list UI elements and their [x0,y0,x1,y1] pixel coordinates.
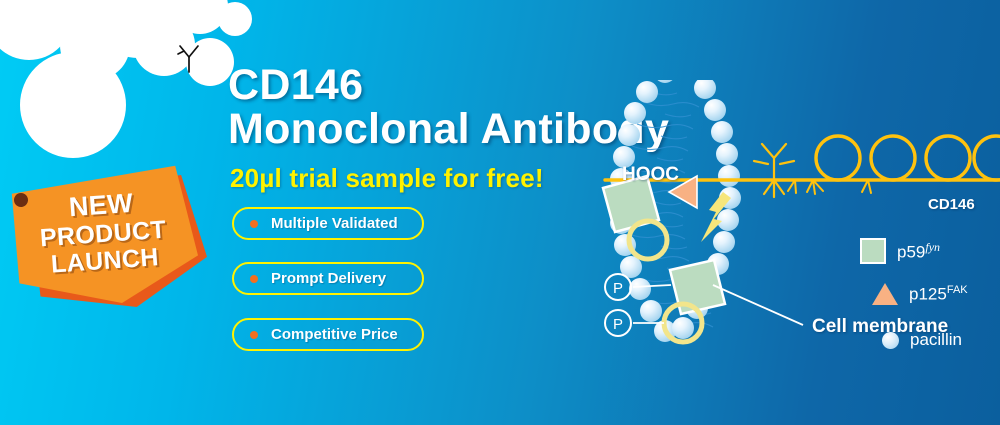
legend-sup: fyn [925,240,940,254]
feature-label: Multiple Validated [271,215,398,232]
glycan-branch [754,144,794,197]
cd146-label: CD146 [928,196,975,213]
phosphate-label: P [613,280,623,297]
legend-label-p125: p125FAK [909,284,968,305]
legend-item-p59: p59fyn [860,238,940,264]
bullet-dot-icon [250,275,258,283]
legend-sup: FAK [947,284,968,296]
p59-square-swatch-icon [860,238,886,264]
legend-item-p125: p125FAK [872,283,968,305]
phosphate-marker-2: P [605,310,631,336]
legend-text: p125 [909,284,947,303]
legend-label-pacillin: pacillin [910,330,962,350]
antibody-y-icon [176,44,202,74]
promotional-banner: NEW PRODUCT LAUNCH CD146 Monoclonal Anti… [0,0,1000,425]
feature-label: Competitive Price [271,326,398,343]
phosphate-label: P [613,316,623,333]
bullet-dot-icon [250,331,258,339]
feature-pill-multiple-validated[interactable]: Multiple Validated [232,207,424,240]
feature-pill-prompt-delivery[interactable]: Prompt Delivery [232,262,424,295]
cell-membrane-leader-line [713,285,803,325]
blob-circle [60,10,130,80]
p125-triangle-swatch-icon [872,283,898,305]
legend-label-p59: p59fyn [897,240,940,263]
feature-pill-competitive-price[interactable]: Competitive Price [232,318,424,351]
pacillin-circle-swatch-icon [882,332,899,349]
new-product-launch-tag[interactable]: NEW PRODUCT LAUNCH [8,163,223,323]
legend-item-pacillin: pacillin [882,330,962,350]
bullet-dot-icon [250,220,258,228]
tag-line-3: LAUNCH [50,244,160,278]
legend-text: p59 [897,242,925,261]
phosphate-marker-1: P [605,274,631,300]
promo-offer-text: 20µl trial sample for free! [230,163,544,194]
feature-label: Prompt Delivery [271,270,386,287]
blob-circle [218,2,252,36]
hooc-label: HOOC [622,164,679,186]
